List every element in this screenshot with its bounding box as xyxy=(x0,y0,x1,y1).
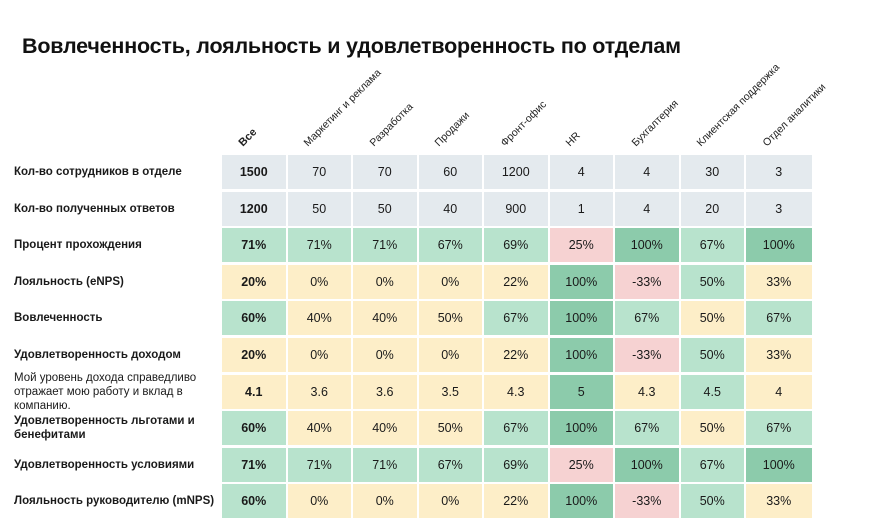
table-cell: 0% xyxy=(419,484,485,518)
table-cell: 100% xyxy=(550,484,616,518)
table-cell: 67% xyxy=(615,301,681,335)
row-label: Процент прохождения xyxy=(0,228,222,262)
table-cell: 4.1 xyxy=(222,375,288,409)
table-cell: 1500 xyxy=(222,155,288,189)
column-header-row: ВсеМаркетинг и рекламаРазработкаПродажиФ… xyxy=(0,0,876,155)
table-cell: 50% xyxy=(419,411,485,445)
table-cell: 60% xyxy=(222,484,288,518)
table-cell: -33% xyxy=(615,484,681,518)
table-cell: 3 xyxy=(746,192,812,226)
table-cell: 30 xyxy=(681,155,747,189)
table-row: Процент прохождения71%71%71%67%69%25%100… xyxy=(0,228,876,262)
table-cell: 20 xyxy=(681,192,747,226)
table-cell: 60% xyxy=(222,411,288,445)
table-cell: 67% xyxy=(681,228,747,262)
column-header-5: HR xyxy=(564,130,583,149)
table-cell: 22% xyxy=(484,484,550,518)
metrics-heatmap-table: Кол-во сотрудников в отделе1500707060120… xyxy=(0,155,876,521)
table-cell: 3.6 xyxy=(288,375,354,409)
table-cell: 50% xyxy=(419,301,485,335)
table-cell: 5 xyxy=(550,375,616,409)
row-label: Удовлетворенность условиями xyxy=(0,448,222,482)
table-cell: 40% xyxy=(288,301,354,335)
table-cell: -33% xyxy=(615,338,681,372)
table-cell: 67% xyxy=(615,411,681,445)
row-label: Удовлетворенность льготами и бенефитами xyxy=(0,411,222,445)
table-cell: 40% xyxy=(288,411,354,445)
row-label: Кол-во сотрудников в отделе xyxy=(0,155,222,189)
table-cell: 0% xyxy=(288,338,354,372)
table-cell: 67% xyxy=(484,301,550,335)
column-header-2: Разработка xyxy=(367,101,415,149)
table-cell: 4 xyxy=(550,155,616,189)
row-label: Мой уровень дохода справедливо отражает … xyxy=(0,375,222,409)
table-cell: 69% xyxy=(484,448,550,482)
table-cell: 67% xyxy=(419,228,485,262)
row-label: Лояльность руководителю (mNPS) xyxy=(0,484,222,518)
table-cell: 71% xyxy=(222,228,288,262)
table-cell: 50 xyxy=(288,192,354,226)
table-cell: 3.6 xyxy=(353,375,419,409)
table-cell: 0% xyxy=(353,265,419,299)
table-cell: 3 xyxy=(746,155,812,189)
table-cell: 33% xyxy=(746,338,812,372)
column-header-8: Отдел аналитики xyxy=(760,81,828,149)
table-cell: 25% xyxy=(550,228,616,262)
table-cell: 71% xyxy=(353,228,419,262)
table-row: Кол-во полученных ответов120050504090014… xyxy=(0,192,876,226)
column-header-0: Все xyxy=(236,126,259,149)
table-cell: 50% xyxy=(681,411,747,445)
table-row: Вовлеченность60%40%40%50%67%100%67%50%67… xyxy=(0,301,876,335)
table-cell: 50 xyxy=(353,192,419,226)
table-cell: 70 xyxy=(288,155,354,189)
table-cell: 0% xyxy=(353,484,419,518)
table-cell: 40% xyxy=(353,411,419,445)
table-cell: 100% xyxy=(615,448,681,482)
table-cell: 71% xyxy=(353,448,419,482)
row-label: Удовлетворенность доходом xyxy=(0,338,222,372)
table-cell: 40 xyxy=(419,192,485,226)
table-cell: 100% xyxy=(550,338,616,372)
table-cell: 40% xyxy=(353,301,419,335)
table-cell: 71% xyxy=(288,228,354,262)
table-cell: 4.3 xyxy=(615,375,681,409)
table-cell: 0% xyxy=(353,338,419,372)
table-cell: 1200 xyxy=(222,192,288,226)
table-cell: 50% xyxy=(681,338,747,372)
table-cell: 50% xyxy=(681,301,747,335)
table-row: Удовлетворенность льготами и бенефитами6… xyxy=(0,411,876,445)
table-cell: 22% xyxy=(484,265,550,299)
table-cell: 4 xyxy=(746,375,812,409)
table-cell: 60 xyxy=(419,155,485,189)
table-cell: 100% xyxy=(746,228,812,262)
row-label: Лояльность (eNPS) xyxy=(0,265,222,299)
table-cell: 4 xyxy=(615,155,681,189)
table-cell: 4.3 xyxy=(484,375,550,409)
table-cell: 69% xyxy=(484,228,550,262)
table-cell: 71% xyxy=(288,448,354,482)
table-cell: 4 xyxy=(615,192,681,226)
table-row: Удовлетворенность доходом20%0%0%0%22%100… xyxy=(0,338,876,372)
table-cell: 3.5 xyxy=(419,375,485,409)
column-header-6: Бухгалтерия xyxy=(629,98,680,149)
table-cell: 4.5 xyxy=(681,375,747,409)
table-cell: 67% xyxy=(484,411,550,445)
table-cell: 20% xyxy=(222,265,288,299)
table-cell: 100% xyxy=(550,301,616,335)
table-cell: 100% xyxy=(550,265,616,299)
table-cell: 20% xyxy=(222,338,288,372)
table-cell: -33% xyxy=(615,265,681,299)
table-cell: 1 xyxy=(550,192,616,226)
table-cell: 71% xyxy=(222,448,288,482)
table-row: Лояльность руководителю (mNPS)60%0%0%0%2… xyxy=(0,484,876,518)
table-cell: 100% xyxy=(550,411,616,445)
table-cell: 1200 xyxy=(484,155,550,189)
table-cell: 70 xyxy=(353,155,419,189)
table-row: Мой уровень дохода справедливо отражает … xyxy=(0,375,876,409)
table-cell: 67% xyxy=(746,301,812,335)
table-cell: 60% xyxy=(222,301,288,335)
table-cell: 0% xyxy=(288,484,354,518)
table-cell: 0% xyxy=(288,265,354,299)
table-cell: 50% xyxy=(681,484,747,518)
table-cell: 33% xyxy=(746,265,812,299)
table-cell: 0% xyxy=(419,338,485,372)
table-cell: 22% xyxy=(484,338,550,372)
column-header-3: Продажи xyxy=(433,110,472,149)
table-cell: 50% xyxy=(681,265,747,299)
table-cell: 25% xyxy=(550,448,616,482)
table-cell: 100% xyxy=(615,228,681,262)
table-row: Удовлетворенность условиями71%71%71%67%6… xyxy=(0,448,876,482)
table-cell: 67% xyxy=(681,448,747,482)
table-cell: 67% xyxy=(419,448,485,482)
column-header-4: Фронт-офис xyxy=(498,99,548,149)
table-row: Лояльность (eNPS)20%0%0%0%22%100%-33%50%… xyxy=(0,265,876,299)
table-cell: 100% xyxy=(746,448,812,482)
row-label: Кол-во полученных ответов xyxy=(0,192,222,226)
table-cell: 0% xyxy=(419,265,485,299)
table-row: Кол-во сотрудников в отделе1500707060120… xyxy=(0,155,876,189)
row-label: Вовлеченность xyxy=(0,301,222,335)
table-cell: 33% xyxy=(746,484,812,518)
table-cell: 67% xyxy=(746,411,812,445)
table-cell: 900 xyxy=(484,192,550,226)
